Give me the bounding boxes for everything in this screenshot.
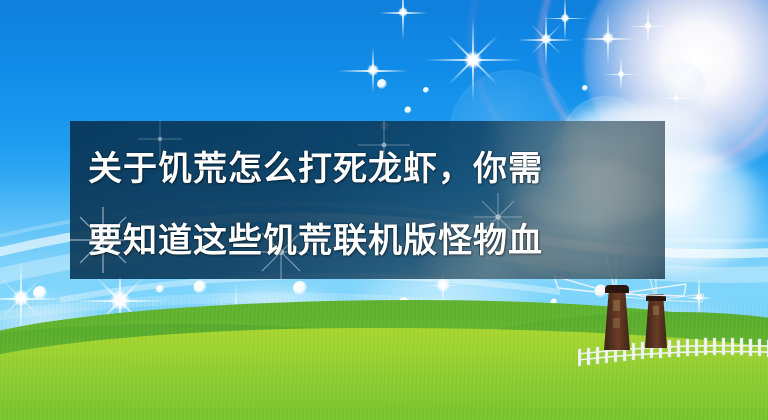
lens-flare-bubble xyxy=(658,62,706,110)
windmill-icon xyxy=(594,288,640,350)
headline-line-2: 要知道这些饥荒联机版怪物血 xyxy=(88,205,649,277)
banner-image: 关于饥荒怎么打死龙虾，你需 要知道这些饥荒联机版怪物血 xyxy=(0,0,768,420)
headline-line-1: 关于饥荒怎么打死龙虾，你需 xyxy=(88,133,649,205)
headline-panel: 关于饥荒怎么打死龙虾，你需 要知道这些饥荒联机版怪物血 xyxy=(70,121,665,279)
